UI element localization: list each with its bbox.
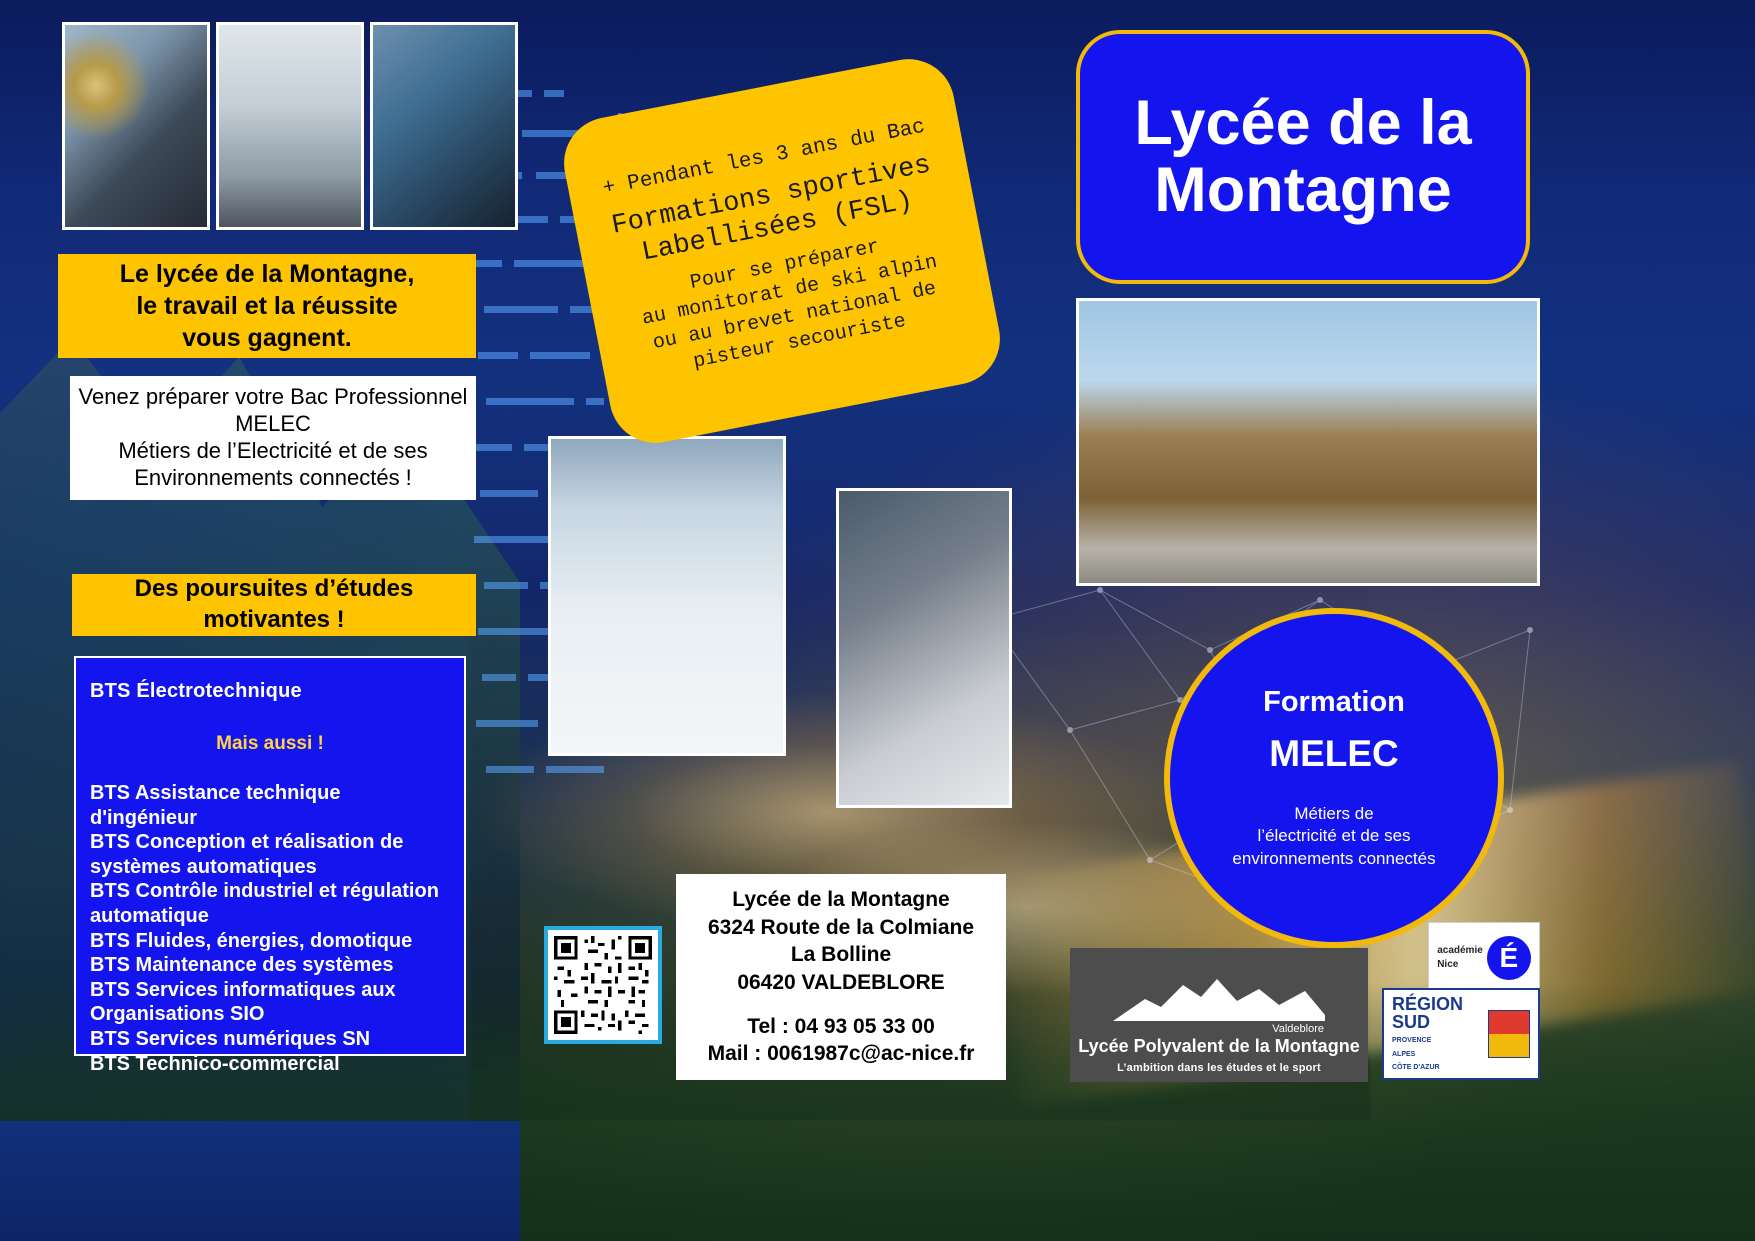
bts-heading: BTS Électrotechnique [90,680,450,703]
melec-sub-line3: environnements connectés [1232,848,1435,871]
melec-sub-line2: l’électricité et de ses [1232,825,1435,848]
logo-lycee-name: Lycée Polyvalent de la Montagne [1078,1036,1359,1057]
page-title: Lycée de la Montagne [1076,30,1530,284]
slogan-line2: le travail et la réussite [136,290,397,322]
slogan-line3: vous gagnent. [182,322,351,354]
bts-item: automatique [90,904,450,929]
logo-lycee-valdeblore: Valdeblore [1272,1023,1324,1035]
logo-region-sud: RÉGION SUD PROVENCE ALPES CÔTE D'AZUR [1382,988,1540,1080]
contact-city: 06420 VALDEBLORE [737,969,944,997]
studies-banner: Des poursuites d’études motivantes ! [72,574,476,636]
page-title-line1: Lycée de la [1134,90,1471,157]
contact-street: 6324 Route de la Colmiane [708,914,974,942]
slogan-banner: Le lycée de la Montagne, le travail et l… [58,254,476,358]
photo-ski-training [548,436,786,756]
bts-item: BTS Fluides, énergies, domotique [90,929,450,954]
bts-item: systèmes automatiques [90,855,450,880]
photo-student-lab-machine [836,488,1012,808]
studies-line1: Des poursuites d’études [135,574,414,605]
melec-sub-line1: Métiers de [1232,803,1435,826]
bts-item: BTS Services informatiques aux [90,978,450,1003]
logo-region-provence: PROVENCE [1392,1036,1484,1045]
region-crest-icon [1488,1010,1530,1058]
logo-academie-line1: académie [1437,944,1483,959]
bottom-blue-strip [0,1121,520,1241]
poster-canvas: Lycée de la Montagne Lycée de la Montagn… [0,0,1755,1241]
contact-box: Lycée de la Montagne 6324 Route de la Co… [676,874,1006,1080]
melec-formation-label: Formation [1263,686,1405,719]
contact-name: Lycée de la Montagne [732,886,949,914]
logo-academie-nice: académie Nice É [1428,922,1540,994]
bts-item: BTS Services numériques SN [90,1027,450,1052]
bac-line1: Venez préparer votre Bac Professionnel [79,384,468,411]
bts-item: BTS Contrôle industriel et régulation [90,879,450,904]
bac-professionnel-box: Venez préparer votre Bac Professionnel M… [70,376,476,500]
bts-item: BTS Technico-commercial [90,1052,450,1077]
logo-region-cote: CÔTE D'AZUR [1392,1063,1484,1072]
bac-line4: Environnements connectés ! [134,465,412,492]
logo-region-sud-label: SUD [1392,1013,1484,1032]
bts-list-box: BTS Électrotechnique Mais aussi ! BTS As… [74,656,466,1056]
studies-line2: motivantes ! [203,605,344,636]
slogan-line1: Le lycée de la Montagne, [120,258,415,290]
page-title-line2: Montagne [1134,157,1471,224]
logo-region-label: RÉGION [1392,995,1484,1013]
logo-lycee-polyvalent: Valdeblore Lycée Polyvalent de la Montag… [1070,948,1368,1082]
melec-code-label: MELEC [1269,733,1399,775]
bac-line2: MELEC [235,411,311,438]
bac-line3: Métiers de l’Electricité et de ses [118,438,427,465]
bts-mais-aussi: Mais aussi ! [90,733,450,755]
bts-item: BTS Conception et réalisation de [90,830,450,855]
logo-academie-line2: Nice [1437,958,1483,973]
logo-academie-emblem: É [1487,936,1531,980]
contact-locality: La Bolline [791,941,891,969]
bts-item: Organisations SIO [90,1002,450,1027]
contact-tel: Tel : 04 93 05 33 00 [747,1013,935,1041]
logo-region-alpes: ALPES [1392,1050,1484,1059]
bts-item: BTS Maintenance des systèmes [90,953,450,978]
mountain-icon [1109,971,1329,1023]
contact-mail[interactable]: Mail : 0061987c@ac-nice.fr [708,1040,975,1068]
photo-student-wiring-panel [370,22,518,230]
photo-student-at-computer [62,22,210,230]
photo-school-building: Lycée de la Montagne [1076,298,1540,586]
bts-item: BTS Assistance technique d'ingénieur [90,781,450,830]
melec-formation-badge: Formation MELEC Métiers de l’électricité… [1164,608,1504,948]
photo-electrical-cabinet [216,22,364,230]
qr-code-icon[interactable] [544,926,662,1044]
logo-lycee-tagline: L’ambition dans les études et le sport [1117,1062,1321,1074]
